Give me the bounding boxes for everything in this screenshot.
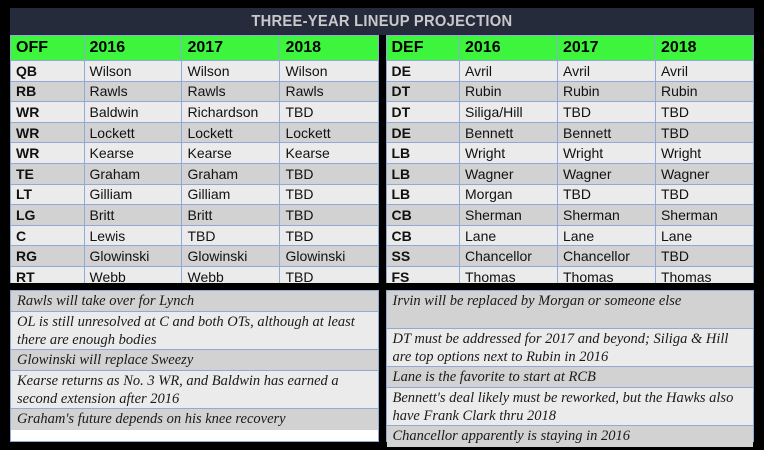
table-row: LGBrittBrittTBD [11, 205, 379, 226]
table-row: CBLaneLaneLane [386, 225, 754, 246]
table-row: LBWrightWrightWright [386, 143, 754, 164]
player-cell: Lane [557, 225, 655, 246]
offense-table-panel: OFF 2016 2017 2018 QBWilsonWilsonWilsonR… [10, 35, 379, 283]
offense-notes: Rawls will take over for LynchOL is stil… [10, 290, 379, 442]
position-cell: LT [11, 184, 85, 205]
player-cell: TBD [557, 102, 655, 123]
offense-table: OFF 2016 2017 2018 QBWilsonWilsonWilsonR… [10, 35, 379, 288]
table-row: LBWagnerWagnerWagner [386, 163, 754, 184]
notes-vertical-divider [379, 290, 386, 442]
player-cell: Gilliam [182, 184, 280, 205]
player-cell: Lewis [84, 225, 182, 246]
position-cell: WR [11, 122, 85, 143]
note-item: Kearse returns as No. 3 WR, and Baldwin … [11, 371, 378, 409]
defense-col-header-2018: 2018 [655, 36, 753, 61]
player-cell: Richardson [182, 102, 280, 123]
offense-col-header-2016: 2016 [84, 36, 182, 61]
player-cell: TBD [280, 184, 378, 205]
player-cell: Lockett [280, 122, 378, 143]
note-item: Graham's future depends on his knee reco… [11, 409, 378, 430]
player-cell: TBD [182, 225, 280, 246]
vertical-divider [379, 35, 386, 283]
table-row: DTRubinRubinRubin [386, 81, 754, 102]
player-cell: Avril [460, 61, 558, 82]
player-cell: Glowinski [280, 246, 378, 267]
player-cell: Sherman [655, 205, 753, 226]
player-cell: Rawls [182, 81, 280, 102]
position-cell: SS [386, 246, 460, 267]
position-cell: WR [11, 102, 85, 123]
offense-table-body: QBWilsonWilsonWilsonRBRawlsRawlsRawlsWRB… [11, 61, 379, 288]
position-cell: DT [386, 102, 460, 123]
player-cell: TBD [280, 205, 378, 226]
position-cell: WR [11, 143, 85, 164]
position-cell: C [11, 225, 85, 246]
player-cell: Chancellor [460, 246, 558, 267]
position-cell: DE [386, 61, 460, 82]
page-title: THREE-YEAR LINEUP PROJECTION [251, 8, 512, 35]
position-cell: CB [386, 205, 460, 226]
position-cell: RG [11, 246, 85, 267]
player-cell: Lane [655, 225, 753, 246]
player-cell: Wilson [280, 61, 378, 82]
player-cell: Wright [655, 143, 753, 164]
offense-col-header-2017: 2017 [182, 36, 280, 61]
player-cell: Bennett [460, 122, 558, 143]
defense-col-header-pos: DEF [386, 36, 460, 61]
player-cell: Graham [182, 163, 280, 184]
player-cell: Wright [557, 143, 655, 164]
table-row: SSChancellorChancellorTBD [386, 246, 754, 267]
player-cell: Baldwin [84, 102, 182, 123]
offense-col-header-pos: OFF [11, 36, 85, 61]
player-cell: Bennett [557, 122, 655, 143]
note-item: Irvin will be replaced by Morgan or some… [387, 291, 754, 329]
player-cell: TBD [655, 184, 753, 205]
position-cell: RB [11, 81, 85, 102]
player-cell: Graham [84, 163, 182, 184]
defense-header-row: DEF 2016 2017 2018 [386, 36, 754, 61]
player-cell: Lockett [84, 122, 182, 143]
player-cell: Rubin [460, 81, 558, 102]
player-cell: Avril [655, 61, 753, 82]
position-cell: LB [386, 163, 460, 184]
player-cell: Wagner [557, 163, 655, 184]
table-row: RGGlowinskiGlowinskiGlowinski [11, 246, 379, 267]
player-cell: TBD [655, 102, 753, 123]
player-cell: Gilliam [84, 184, 182, 205]
note-item: Chancellor apparently is staying in 2016 [387, 426, 754, 447]
notes-section: Rawls will take over for LynchOL is stil… [10, 290, 754, 442]
lineup-tables: OFF 2016 2017 2018 QBWilsonWilsonWilsonR… [10, 35, 754, 283]
player-cell: TBD [280, 102, 378, 123]
player-cell: Chancellor [557, 246, 655, 267]
position-cell: DE [386, 122, 460, 143]
player-cell: Lockett [182, 122, 280, 143]
defense-table: DEF 2016 2017 2018 DEAvrilAvrilAvrilDTRu… [386, 35, 755, 288]
note-item: DT must be addressed for 2017 and beyond… [387, 329, 754, 367]
table-row: DEAvrilAvrilAvril [386, 61, 754, 82]
position-cell: DT [386, 81, 460, 102]
horizontal-divider [10, 283, 754, 290]
note-item: Lane is the favorite to start at RCB [387, 367, 754, 388]
table-row: WRLockettLockettLockett [11, 122, 379, 143]
defense-table-body: DEAvrilAvrilAvrilDTRubinRubinRubinDTSili… [386, 61, 754, 288]
table-row: CLewisTBDTBD [11, 225, 379, 246]
table-row: CBShermanShermanSherman [386, 205, 754, 226]
note-item: Rawls will take over for Lynch [11, 291, 378, 312]
player-cell: Siliga/Hill [460, 102, 558, 123]
projection-graphic: THREE-YEAR LINEUP PROJECTION OFF 2016 20… [0, 0, 764, 450]
player-cell: TBD [280, 163, 378, 184]
table-row: LTGilliamGilliamTBD [11, 184, 379, 205]
player-cell: TBD [655, 122, 753, 143]
graphic-inner: THREE-YEAR LINEUP PROJECTION OFF 2016 20… [10, 8, 754, 442]
player-cell: TBD [557, 184, 655, 205]
table-row: TEGrahamGrahamTBD [11, 163, 379, 184]
player-cell: TBD [280, 225, 378, 246]
position-cell: TE [11, 163, 85, 184]
player-cell: Wagner [460, 163, 558, 184]
player-cell: Kearse [280, 143, 378, 164]
defense-notes: Irvin will be replaced by Morgan or some… [386, 290, 755, 442]
player-cell: Wilson [84, 61, 182, 82]
player-cell: Glowinski [84, 246, 182, 267]
table-row: WRKearseKearseKearse [11, 143, 379, 164]
player-cell: Rubin [655, 81, 753, 102]
player-cell: Kearse [182, 143, 280, 164]
table-row: LBMorganTBDTBD [386, 184, 754, 205]
player-cell: Lane [460, 225, 558, 246]
note-item: Glowinski will replace Sweezy [11, 350, 378, 371]
table-row: DTSiliga/HillTBDTBD [386, 102, 754, 123]
player-cell: Avril [557, 61, 655, 82]
table-row: WRBaldwinRichardsonTBD [11, 102, 379, 123]
position-cell: CB [386, 225, 460, 246]
player-cell: Kearse [84, 143, 182, 164]
table-row: DEBennettBennettTBD [386, 122, 754, 143]
player-cell: Morgan [460, 184, 558, 205]
defense-col-header-2017: 2017 [557, 36, 655, 61]
player-cell: Sherman [557, 205, 655, 226]
note-item: OL is still unresolved at C and both OTs… [11, 312, 378, 350]
title-bar: THREE-YEAR LINEUP PROJECTION [10, 8, 754, 35]
player-cell: Rawls [280, 81, 378, 102]
player-cell: Rubin [557, 81, 655, 102]
position-cell: LG [11, 205, 85, 226]
defense-table-panel: DEF 2016 2017 2018 DEAvrilAvrilAvrilDTRu… [386, 35, 755, 283]
player-cell: Wilson [182, 61, 280, 82]
player-cell: Rawls [84, 81, 182, 102]
position-cell: LB [386, 143, 460, 164]
player-cell: Britt [182, 205, 280, 226]
offense-col-header-2018: 2018 [280, 36, 378, 61]
offense-header-row: OFF 2016 2017 2018 [11, 36, 379, 61]
player-cell: Wagner [655, 163, 753, 184]
position-cell: QB [11, 61, 85, 82]
player-cell: TBD [655, 246, 753, 267]
player-cell: Wright [460, 143, 558, 164]
table-row: RBRawlsRawlsRawls [11, 81, 379, 102]
position-cell: LB [386, 184, 460, 205]
player-cell: Glowinski [182, 246, 280, 267]
player-cell: Sherman [460, 205, 558, 226]
player-cell: Britt [84, 205, 182, 226]
table-row: QBWilsonWilsonWilson [11, 61, 379, 82]
defense-col-header-2016: 2016 [460, 36, 558, 61]
note-item: Bennett's deal likely must be reworked, … [387, 388, 754, 426]
